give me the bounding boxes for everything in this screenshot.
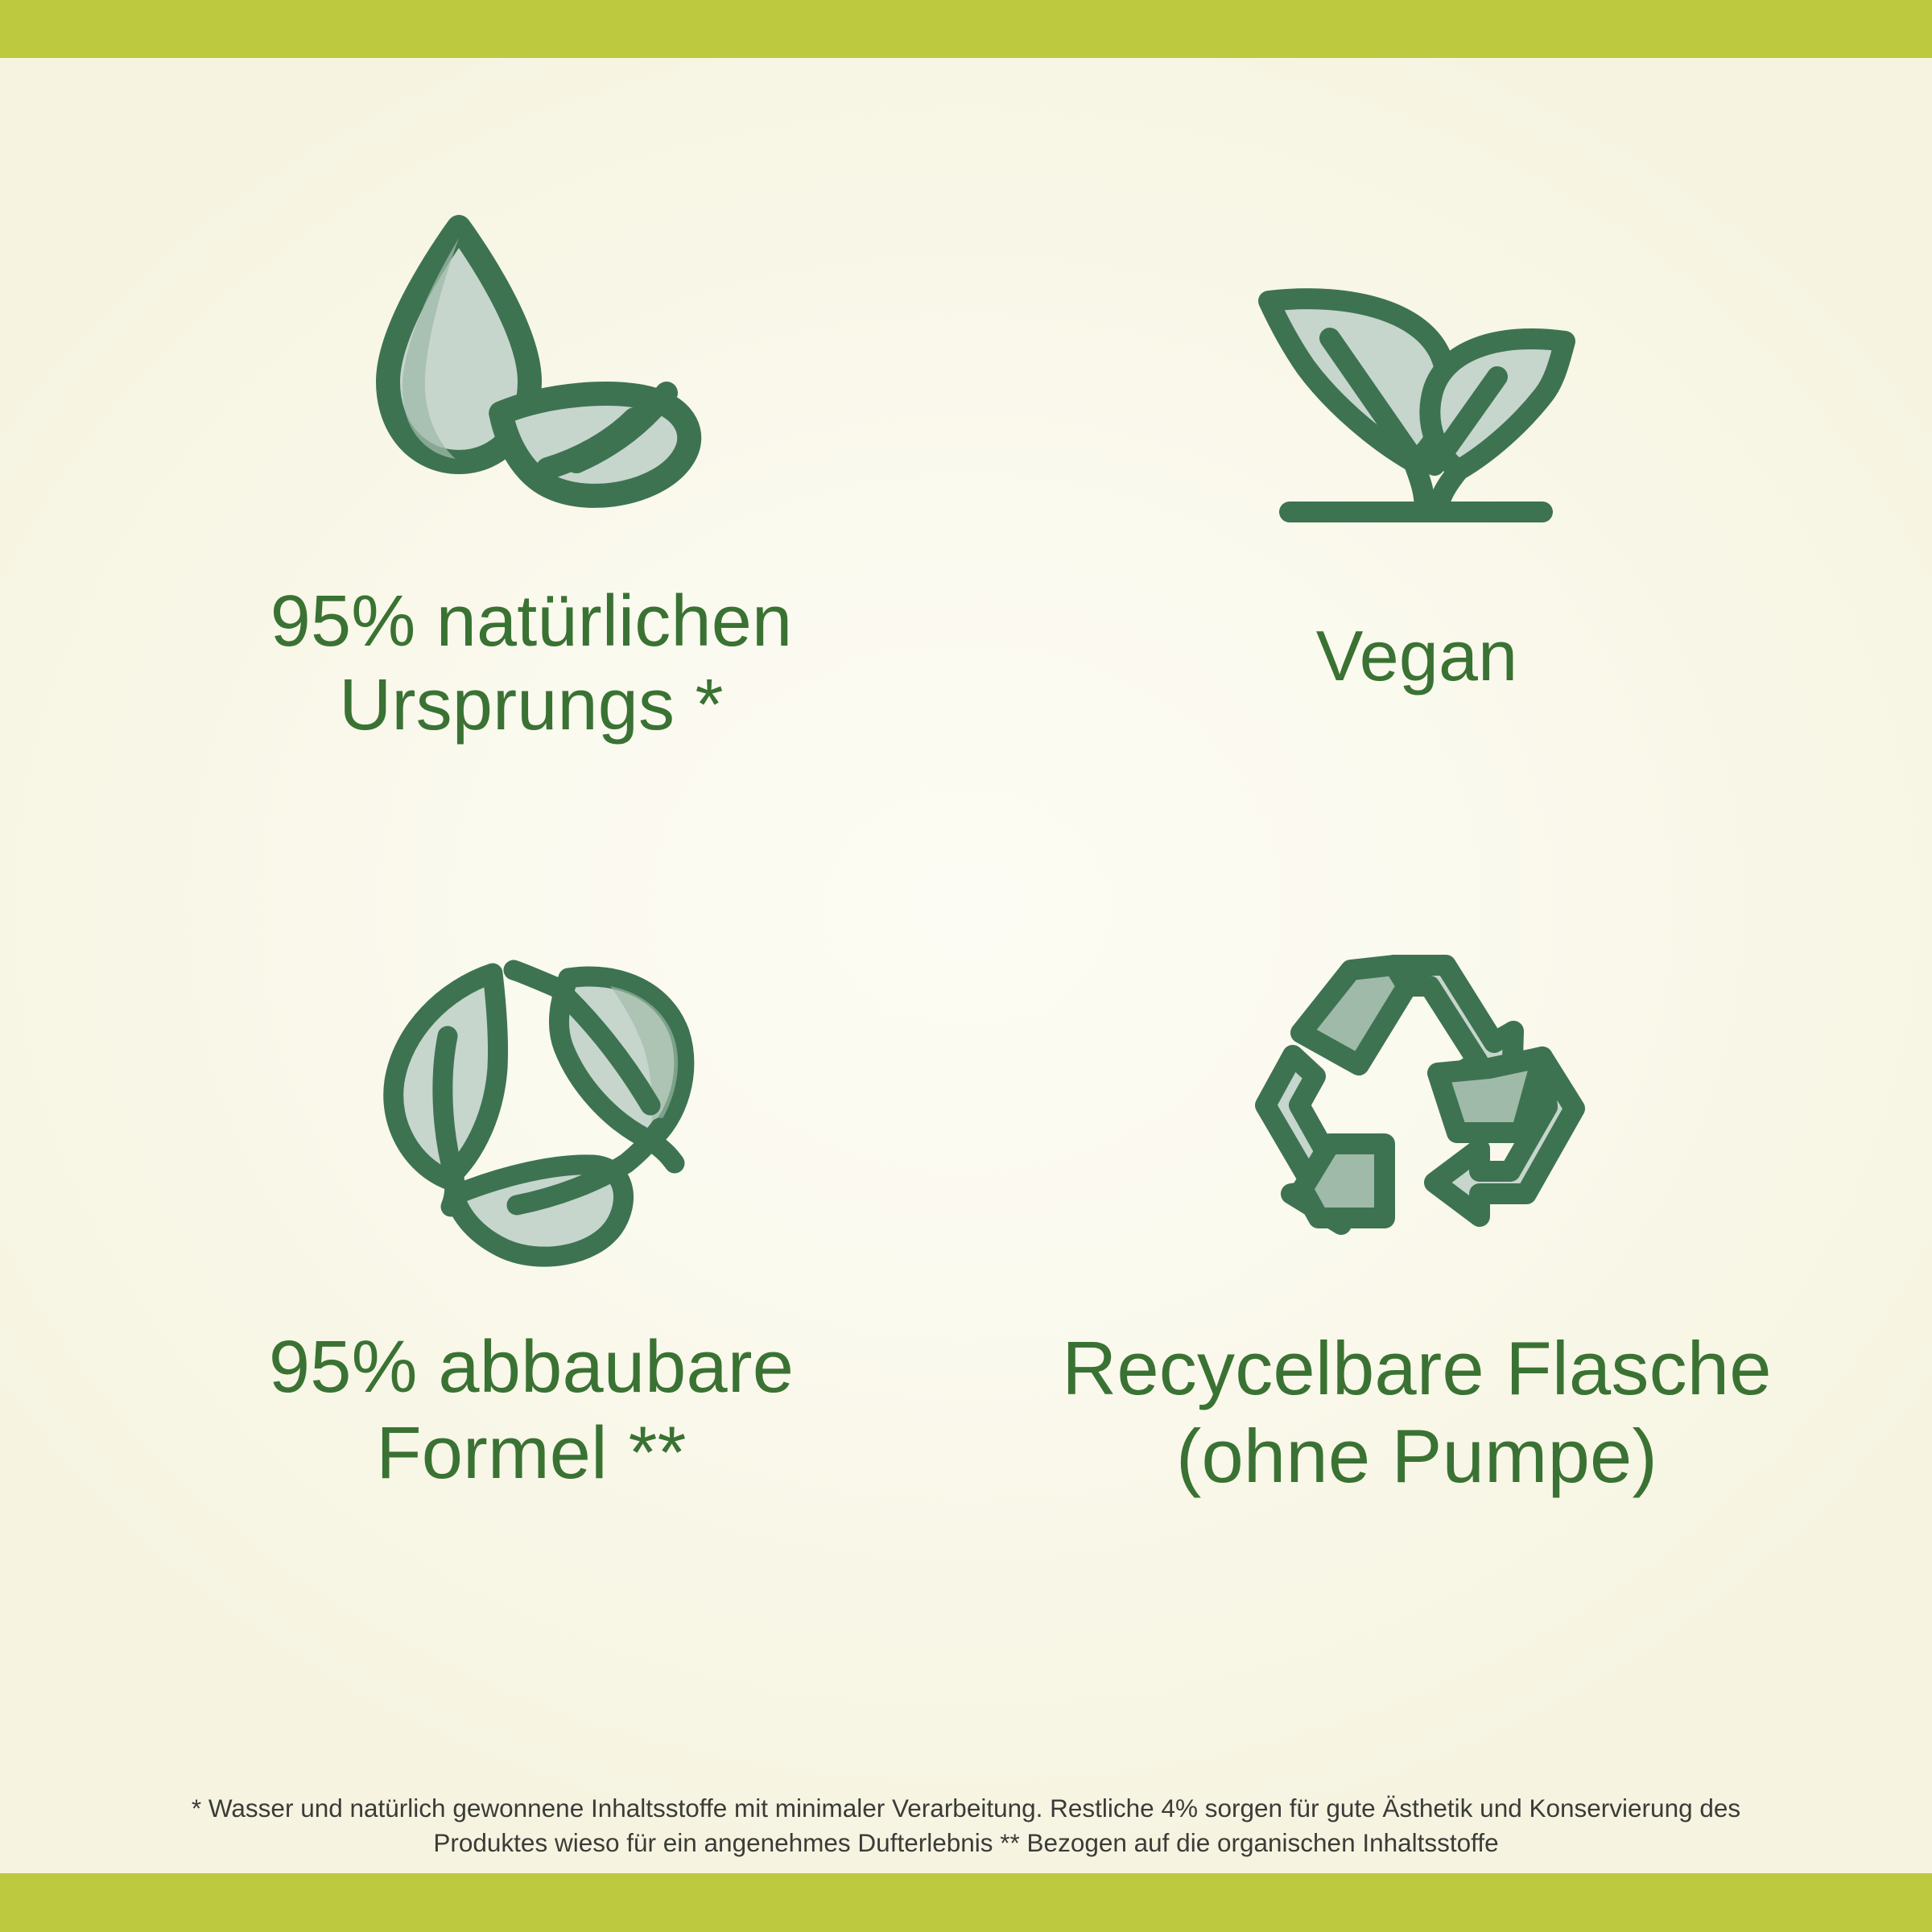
- top-accent-band: [0, 0, 1932, 58]
- product-claims-panel: 95% natürlichen Ursprungs *: [0, 0, 1932, 1932]
- three-leaves-circle-icon: [370, 923, 692, 1269]
- footnote-disclaimer: * Wasser und natürlich gewonnene Inhalts…: [0, 1791, 1932, 1861]
- feature-item-biodegradable: 95% abbaubare Formel **: [89, 923, 974, 1496]
- water-drop-leaf-icon: [346, 179, 716, 525]
- feature-item-recyclable-bottle: Recycelbare Flasche (ohne Pumpe): [974, 923, 1860, 1500]
- feature-item-vegan: Vegan: [974, 179, 1860, 697]
- recycle-arrows-icon: [1256, 923, 1578, 1269]
- feature-item-natural-origin: 95% natürlichen Ursprungs *: [89, 179, 974, 748]
- feature-label: Recycelbare Flasche (ohne Pumpe): [1062, 1324, 1772, 1500]
- feature-grid: 95% natürlichen Ursprungs *: [0, 58, 1932, 1873]
- feature-label: 95% abbaubare Formel **: [269, 1324, 794, 1496]
- bottom-accent-band: [0, 1873, 1932, 1932]
- feature-label: 95% natürlichen Ursprungs *: [270, 580, 792, 748]
- sprout-plant-icon: [1256, 179, 1578, 525]
- feature-label: Vegan: [1316, 615, 1518, 697]
